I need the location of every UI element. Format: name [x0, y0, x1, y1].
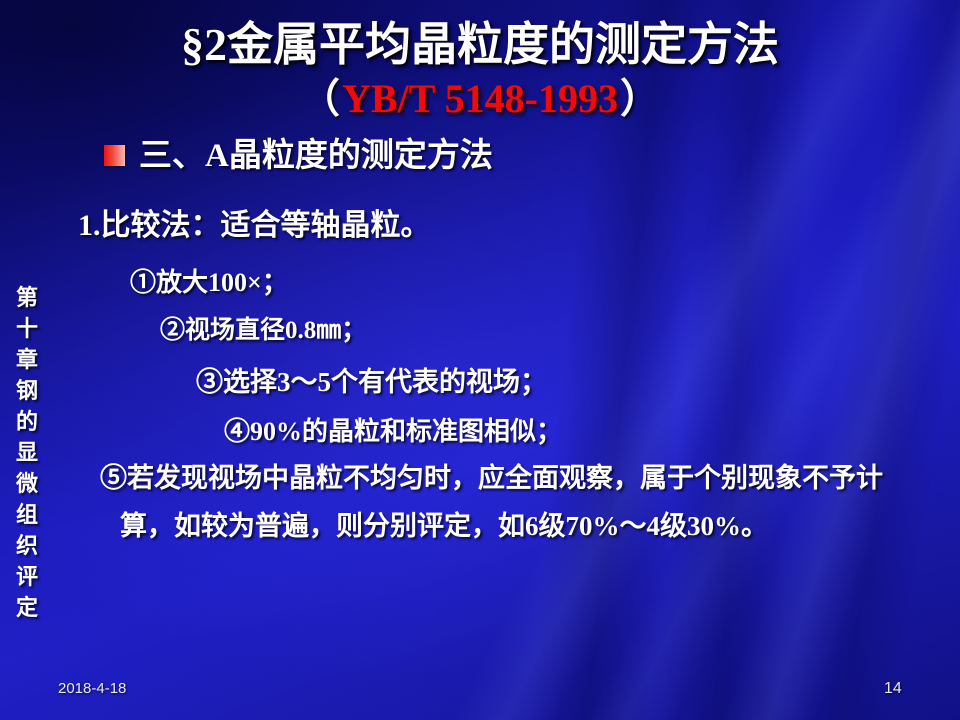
- body-line-step-4: ④90%的晶粒和标准图相似；: [224, 411, 562, 448]
- chapter-vertical-char-7: 组: [10, 499, 44, 530]
- standard-code: YB/T 5148-1993: [340, 76, 620, 121]
- chapter-vertical-char-5: 显: [10, 437, 44, 468]
- chapter-vertical-char-3: 钢: [10, 375, 44, 406]
- footer-date: 2018-4-18: [58, 680, 126, 697]
- body-line-step-2: ②视场直径0.8㎜；: [160, 310, 366, 346]
- chapter-vertical-char-9: 评: [10, 561, 44, 592]
- chapter-vertical-title: 第十章钢的显微组织评定: [10, 282, 44, 623]
- square-bullet-icon: [104, 145, 125, 166]
- title-open-paren: （: [300, 76, 340, 121]
- body-line-step-3: ③选择3～5个有代表的视场；: [196, 360, 547, 399]
- chapter-vertical-char-1: 十: [10, 313, 44, 344]
- body-line-step-1: ①放大100×；: [130, 262, 288, 299]
- body-line-method: 1.比较法：适合等轴晶粒。: [78, 200, 431, 244]
- chapter-vertical-char-4: 的: [10, 406, 44, 437]
- slide-title-standard: （YB/T 5148-1993）: [0, 66, 960, 124]
- chapter-vertical-char-6: 微: [10, 468, 44, 499]
- chapter-vertical-char-8: 织: [10, 530, 44, 561]
- slide-canvas: §2金属平均晶粒度的测定方法 （YB/T 5148-1993） 三、A晶粒度的测…: [0, 0, 960, 720]
- body-line-step-5-part-1: ⑤若发现视场中晶粒不均匀时，应全面观察，属于个别现象不予计: [100, 456, 883, 495]
- section-heading-label: 三、A晶粒度的测定方法: [139, 128, 493, 176]
- footer-page-number: 14: [884, 680, 902, 698]
- chapter-vertical-char-10: 定: [10, 592, 44, 623]
- chapter-vertical-char-0: 第: [10, 282, 44, 313]
- slide-title-main: §2金属平均晶粒度的测定方法: [0, 8, 960, 74]
- body-line-step-5-part-2: 算，如较为普遍，则分别评定，如6级70%～4级30%。: [120, 504, 768, 543]
- title-close-paren: ）: [620, 76, 660, 121]
- chapter-vertical-char-2: 章: [10, 344, 44, 375]
- section-heading: 三、A晶粒度的测定方法: [104, 128, 493, 176]
